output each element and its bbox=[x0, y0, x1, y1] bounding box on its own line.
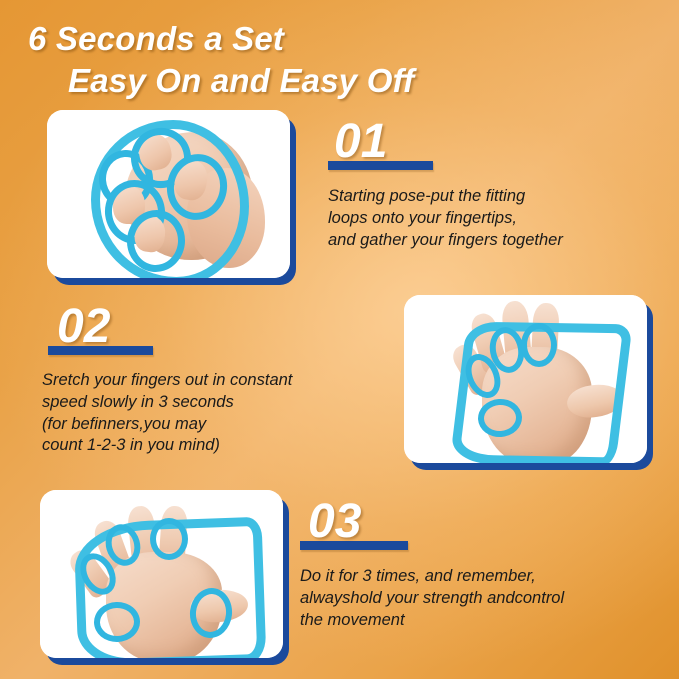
title-line-1: 6 Seconds a Set bbox=[28, 18, 628, 60]
title-line-2: Easy On and Easy Off bbox=[68, 60, 628, 102]
step-1-number: 01 bbox=[334, 118, 387, 166]
step-2-description: Sretch your fingers out in constant spee… bbox=[42, 370, 397, 457]
step-3-number: 03 bbox=[308, 498, 361, 546]
step-2-photo-card bbox=[404, 295, 647, 463]
step-1-photo-card bbox=[47, 110, 290, 278]
step-3-photo bbox=[40, 490, 283, 658]
stretcher-loop bbox=[150, 518, 188, 560]
product-instruction-poster: 6 Seconds a Set Easy On and Easy Off 01 … bbox=[0, 0, 679, 679]
step-2-number: 02 bbox=[57, 303, 110, 351]
step-2-photo bbox=[404, 295, 647, 463]
step-3-description: Do it for 3 times, and remember, alwaysh… bbox=[300, 566, 660, 631]
step-3-photo-card bbox=[40, 490, 283, 658]
step-1-photo bbox=[47, 110, 290, 278]
stretcher-loop bbox=[521, 323, 557, 367]
step-1-description: Starting pose-put the fitting loops onto… bbox=[328, 186, 658, 251]
poster-title: 6 Seconds a Set Easy On and Easy Off bbox=[28, 18, 628, 101]
